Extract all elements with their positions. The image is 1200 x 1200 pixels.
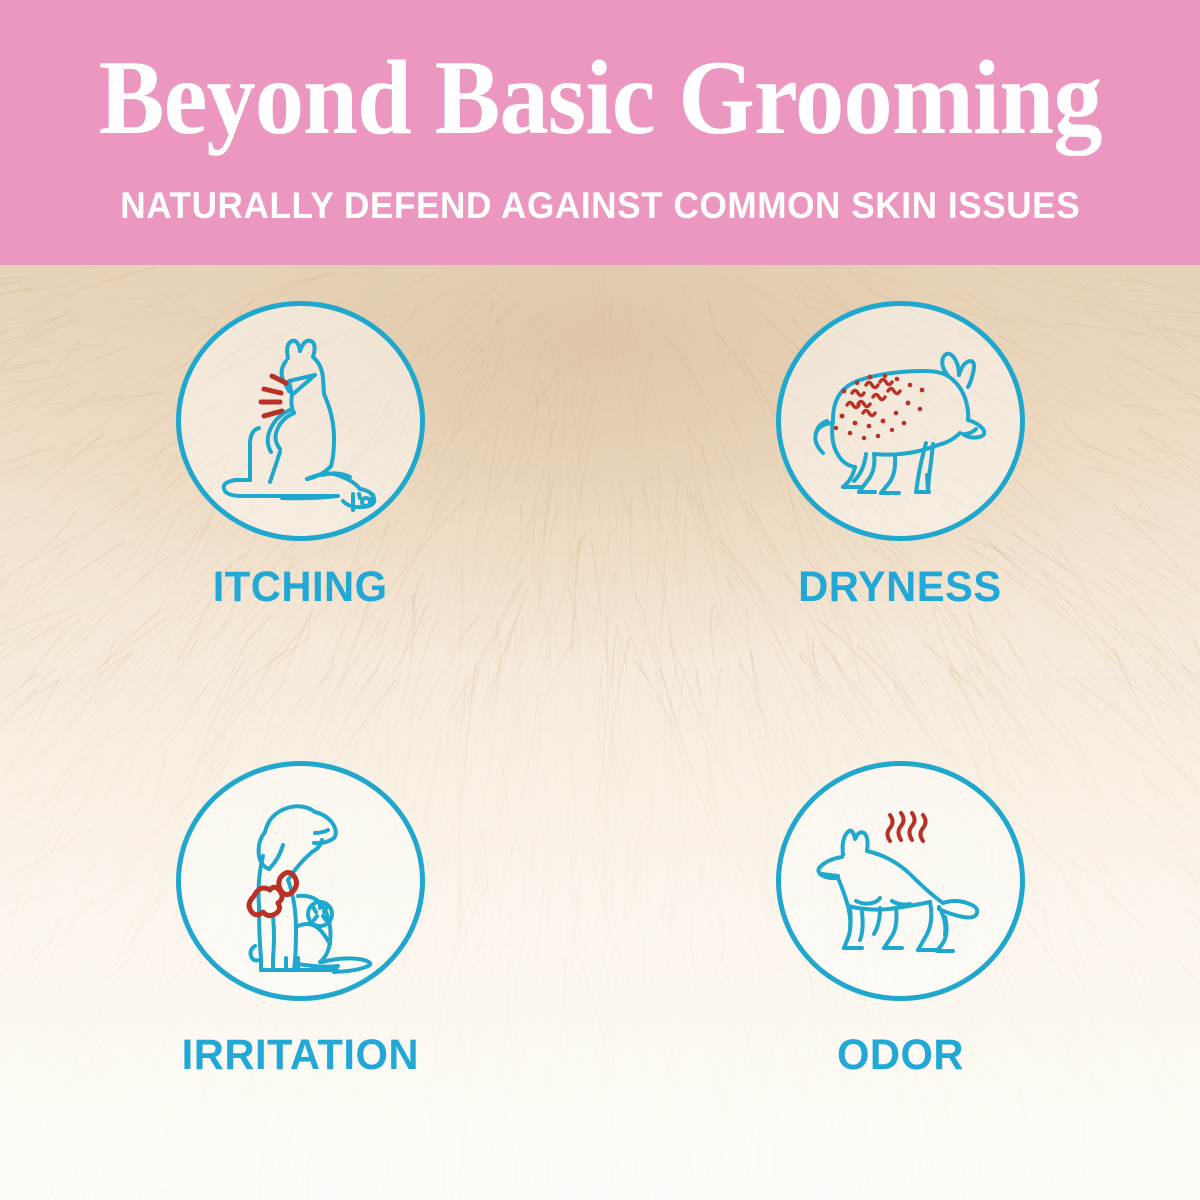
grid-item-odor[interactable]: ODOR [600, 733, 1200, 1200]
dog-flaky-skin-icon [800, 333, 1000, 509]
label-itching: ITCHING [213, 563, 388, 612]
grid-item-irritation[interactable]: IRRITATION [0, 733, 600, 1200]
label-dryness: DRYNESS [798, 563, 1002, 612]
badge-odor[interactable] [776, 761, 1025, 1001]
dog-irritated-patch-icon [210, 786, 390, 976]
page-subtitle: NATURALLY DEFEND AGAINST COMMON SKIN ISS… [120, 185, 1080, 227]
skin-issue-grid: ITCHING [0, 265, 1200, 1200]
flakes-accent [834, 374, 925, 440]
grid-item-dryness[interactable]: DRYNESS [600, 265, 1200, 733]
poster: Beyond Basic Grooming NATURALLY DEFEND A… [0, 0, 1200, 1200]
dog-scratching-icon [202, 328, 398, 514]
page-title: Beyond Basic Grooming [99, 45, 1102, 151]
dog-odor-icon [800, 795, 1000, 967]
grid-item-itching[interactable]: ITCHING [0, 265, 600, 733]
label-irritation: IRRITATION [181, 1031, 418, 1080]
itch-lines-accent [261, 376, 286, 416]
badge-irritation[interactable] [176, 761, 425, 1001]
odor-waves-accent [888, 813, 926, 841]
header-banner: Beyond Basic Grooming NATURALLY DEFEND A… [0, 0, 1200, 265]
badge-dryness[interactable] [776, 301, 1025, 541]
label-odor: ODOR [836, 1031, 963, 1080]
badge-itching[interactable] [176, 301, 425, 541]
